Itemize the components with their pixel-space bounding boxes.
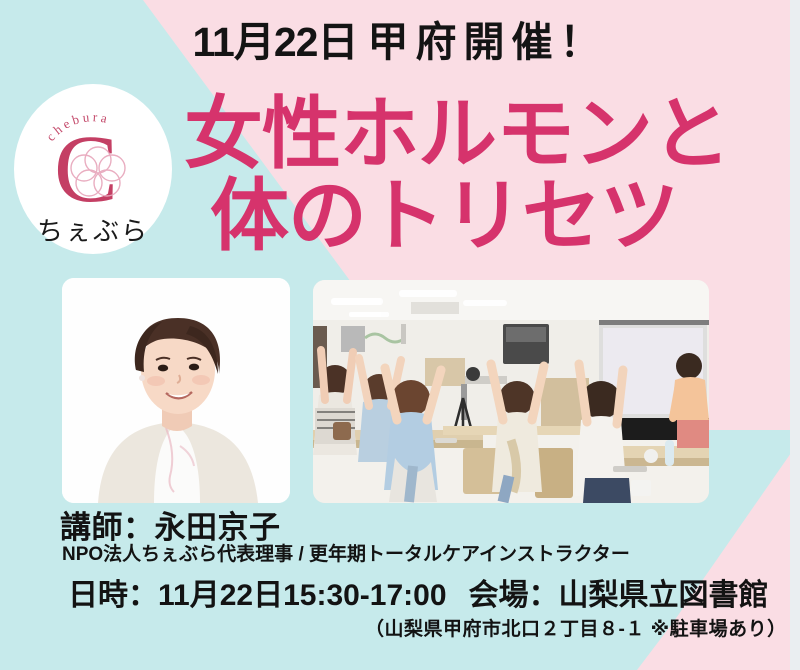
- page-title: 女性ホルモンと 体のトリセツ: [176, 96, 776, 253]
- kicker-date: 11月22日: [193, 19, 358, 65]
- seminar-classroom-illustration: [313, 280, 709, 503]
- event-kicker: 11月22日甲府開催！: [0, 22, 800, 63]
- venue-label: 会場：山梨県立図書館: [469, 579, 769, 612]
- title-line-1: 女性ホルモンと: [184, 96, 776, 171]
- speaker-portrait-illustration: [62, 278, 290, 503]
- kicker-place: 甲府開催！: [367, 19, 607, 65]
- title-line-2: 体のトリセツ: [210, 178, 776, 253]
- speaker-title: NPO法人ちぇぶら代表理事 / 更年期トータルケアインストラクター: [62, 539, 630, 566]
- venue-address: （山梨県甲府市北口２丁目８-１ ※駐車場あり）: [365, 614, 787, 641]
- right-edge-strip: [790, 0, 800, 670]
- event-poster: chebura C ちぇぶら 11月22日甲府開催！ 女性ホルモンと 体のトリセ…: [0, 0, 800, 670]
- chebura-logo: chebura C ちぇぶら: [14, 84, 172, 254]
- speaker-portrait-photo: [62, 278, 290, 503]
- svg-text:ちぇぶら: ちぇぶら: [37, 216, 149, 246]
- datetime-venue-line: 日時：11月22日15:30-17:00会場：山梨県立図書館: [68, 570, 769, 614]
- chebura-logo-mark: chebura C ちぇぶら: [18, 88, 168, 250]
- datetime-label: 日時：11月22日15:30-17:00: [68, 579, 447, 612]
- seminar-classroom-photo: [313, 280, 709, 503]
